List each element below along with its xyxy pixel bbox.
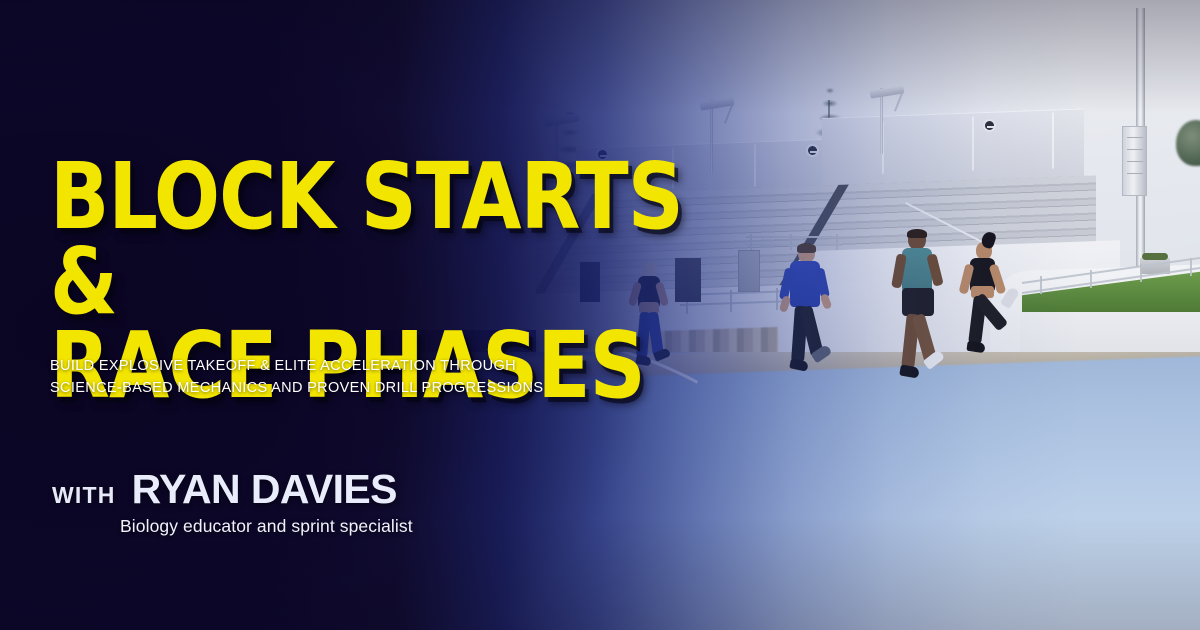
text-content: BLOCK STARTS & RACE PHASES BUILD EXPLOSI…: [0, 0, 1200, 630]
presenter-name: RYAN DAVIES: [132, 466, 397, 513]
presenter-title: Biology educator and sprint specialist: [120, 516, 413, 537]
subtitle: BUILD EXPLOSIVE TAKEOFF & ELITE ACCELERA…: [50, 356, 590, 400]
webinar-banner: BLOCK STARTS & RACE PHASES BUILD EXPLOSI…: [0, 0, 1200, 630]
presenter-block: WITH RYAN DAVIES: [52, 466, 397, 513]
title-line-1: BLOCK STARTS &: [50, 143, 683, 335]
with-label: WITH: [52, 482, 116, 509]
